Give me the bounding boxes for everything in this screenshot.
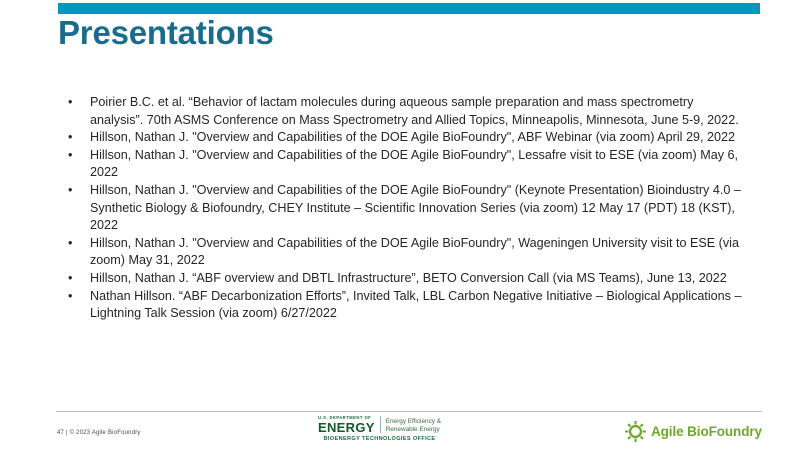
sun-gear-icon bbox=[625, 421, 646, 442]
list-item-text: Nathan Hillson. “ABF Decarbonization Eff… bbox=[90, 289, 742, 321]
list-item: • Hillson, Nathan J. "Overview and Capab… bbox=[62, 235, 742, 270]
presentations-list: • Poirier B.C. et al. “Behavior of lacta… bbox=[62, 94, 742, 323]
list-item: • Hillson, Nathan J. "Overview and Capab… bbox=[62, 129, 742, 147]
bullet-marker: • bbox=[68, 288, 72, 306]
bullet-marker: • bbox=[68, 94, 72, 112]
list-item: • Hillson, Nathan J. “ABF overview and D… bbox=[62, 270, 742, 288]
bullet-marker: • bbox=[68, 129, 72, 147]
bioenergy-office-label: BIOENERGY TECHNOLOGIES OFFICE bbox=[324, 436, 436, 442]
doe-logo-row: U.S. DEPARTMENT OF ENERGY Energy Efficie… bbox=[318, 415, 441, 434]
footer-divider bbox=[56, 411, 762, 412]
list-item-text: Hillson, Nathan J. "Overview and Capabil… bbox=[90, 148, 738, 180]
list-item: • Hillson, Nathan J. "Overview and Capab… bbox=[62, 147, 742, 182]
list-item: • Poirier B.C. et al. “Behavior of lacta… bbox=[62, 94, 742, 129]
list-item-text: Poirier B.C. et al. “Behavior of lactam … bbox=[90, 95, 739, 127]
list-item: • Nathan Hillson. “ABF Decarbonization E… bbox=[62, 288, 742, 323]
doe-logo-wordmark: U.S. DEPARTMENT OF ENERGY bbox=[318, 415, 380, 434]
list-item-text: Hillson, Nathan J. “ABF overview and DBT… bbox=[90, 271, 727, 285]
bullet-marker: • bbox=[68, 235, 72, 253]
title-accent-bar bbox=[58, 3, 760, 14]
doe-energy-logo: U.S. DEPARTMENT OF ENERGY Energy Efficie… bbox=[318, 415, 441, 442]
list-item-text: Hillson, Nathan J. "Overview and Capabil… bbox=[90, 236, 739, 268]
slide-canvas: Presentations • Poirier B.C. et al. “Beh… bbox=[0, 0, 800, 450]
doe-energy-wordmark: ENERGY bbox=[318, 421, 375, 434]
list-item: • Hillson, Nathan J. "Overview and Capab… bbox=[62, 182, 742, 235]
footer-credit: 47 | © 2023 Agile BioFoundry bbox=[57, 430, 141, 436]
doe-logo-divider bbox=[380, 416, 381, 433]
agile-biofoundry-wordmark: Agile BioFoundry bbox=[651, 424, 762, 439]
agile-biofoundry-logo: Agile BioFoundry bbox=[625, 421, 762, 442]
doe-office-line-2: Renewable Energy bbox=[386, 426, 441, 433]
doe-office-name: Energy Efficiency & Renewable Energy bbox=[386, 418, 441, 434]
bullet-marker: • bbox=[68, 270, 72, 288]
page-title: Presentations bbox=[58, 14, 274, 52]
list-item-text: Hillson, Nathan J. "Overview and Capabil… bbox=[90, 183, 741, 232]
doe-office-line-1: Energy Efficiency & bbox=[386, 418, 441, 425]
bullet-marker: • bbox=[68, 147, 72, 165]
list-item-text: Hillson, Nathan J. "Overview and Capabil… bbox=[90, 130, 735, 144]
bullet-marker: • bbox=[68, 182, 72, 200]
